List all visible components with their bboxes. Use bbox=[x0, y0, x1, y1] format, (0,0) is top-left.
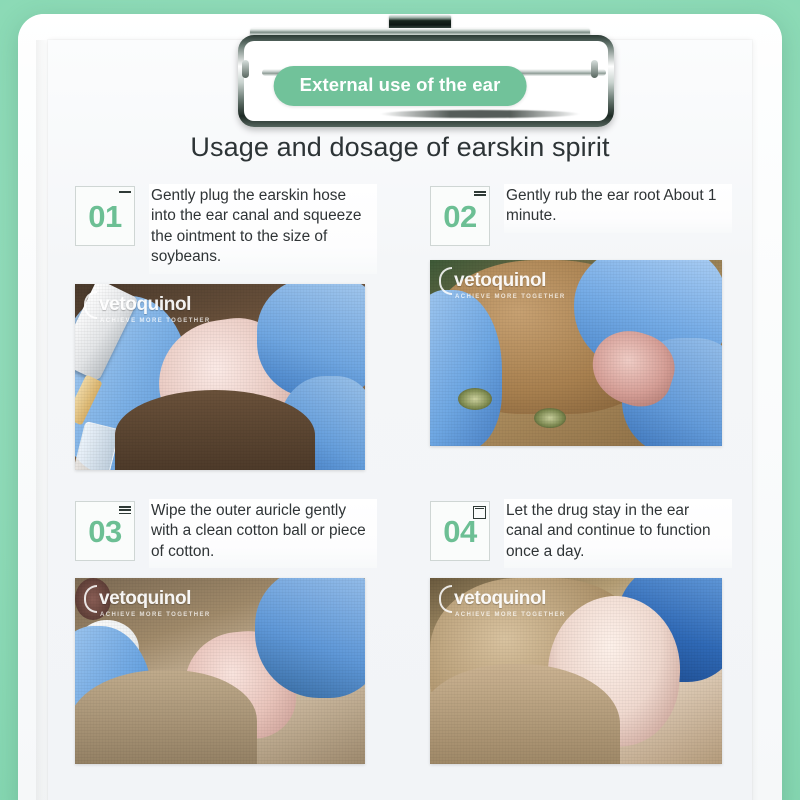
step-photo-01: vetoquinol ACHIEVE MORE TOGETHER bbox=[75, 284, 365, 470]
step-number-badge-01: 01 bbox=[75, 186, 135, 246]
photo-scene-01 bbox=[75, 284, 365, 470]
steps-grid: 01 Gently plug the earskin hose into the… bbox=[18, 184, 782, 800]
step-header-01: 01 Gently plug the earskin hose into the… bbox=[75, 184, 377, 274]
square-marker-icon bbox=[473, 506, 486, 519]
step-text-01: Gently plug the earskin hose into the ea… bbox=[149, 184, 377, 274]
two-dash-icon bbox=[474, 191, 486, 203]
step-number-03: 03 bbox=[88, 516, 121, 547]
step-number-02: 02 bbox=[443, 201, 476, 232]
step-card-04: 04 Let the drug stay in the ear canal an… bbox=[430, 499, 732, 764]
clip-hinge-left-icon bbox=[242, 60, 249, 78]
step-card-03: 03 Wipe the outer auricle gently with a … bbox=[75, 499, 377, 764]
step-photo-04: vetoquinol ACHIEVE MORE TOGETHER bbox=[430, 578, 722, 764]
step-header-02: 02 Gently rub the ear root About 1 minut… bbox=[430, 184, 732, 250]
step-number-04: 04 bbox=[443, 516, 476, 547]
step-photo-02: vetoquinol ACHIEVE MORE TOGETHER bbox=[430, 260, 722, 446]
clip-bottom-shadow bbox=[380, 110, 580, 118]
step-number-01: 01 bbox=[88, 201, 121, 232]
one-dash-icon bbox=[119, 191, 131, 203]
step-text-04: Let the drug stay in the ear canal and c… bbox=[504, 499, 732, 568]
banner-pill: External use of the ear bbox=[274, 66, 527, 106]
step-photo-03: vetoquinol ACHIEVE MORE TOGETHER bbox=[75, 578, 365, 764]
step-number-badge-02: 02 bbox=[430, 186, 490, 246]
step-header-03: 03 Wipe the outer auricle gently with a … bbox=[75, 499, 377, 568]
screenshot-root: External use of the ear Usage and dosage… bbox=[0, 0, 800, 800]
steps-row-1: 01 Gently plug the earskin hose into the… bbox=[18, 184, 782, 499]
three-dash-icon bbox=[119, 506, 131, 518]
step-header-04: 04 Let the drug stay in the ear canal an… bbox=[430, 499, 732, 568]
photo-scene-04 bbox=[430, 578, 722, 764]
clipboard-board: External use of the ear Usage and dosage… bbox=[18, 14, 782, 800]
clip-hinge-right-icon bbox=[591, 60, 598, 78]
page-title: Usage and dosage of earskin spirit bbox=[18, 132, 782, 163]
step-number-badge-03: 03 bbox=[75, 501, 135, 561]
photo-scene-02 bbox=[430, 260, 722, 446]
step-card-01: 01 Gently plug the earskin hose into the… bbox=[75, 184, 377, 470]
steps-row-2: 03 Wipe the outer auricle gently with a … bbox=[18, 499, 782, 800]
step-card-02: 02 Gently rub the ear root About 1 minut… bbox=[430, 184, 732, 446]
step-text-03: Wipe the outer auricle gently with a cle… bbox=[149, 499, 377, 568]
photo-scene-03 bbox=[75, 578, 365, 764]
step-number-badge-04: 04 bbox=[430, 501, 490, 561]
step-text-02: Gently rub the ear root About 1 minute. bbox=[504, 184, 732, 233]
